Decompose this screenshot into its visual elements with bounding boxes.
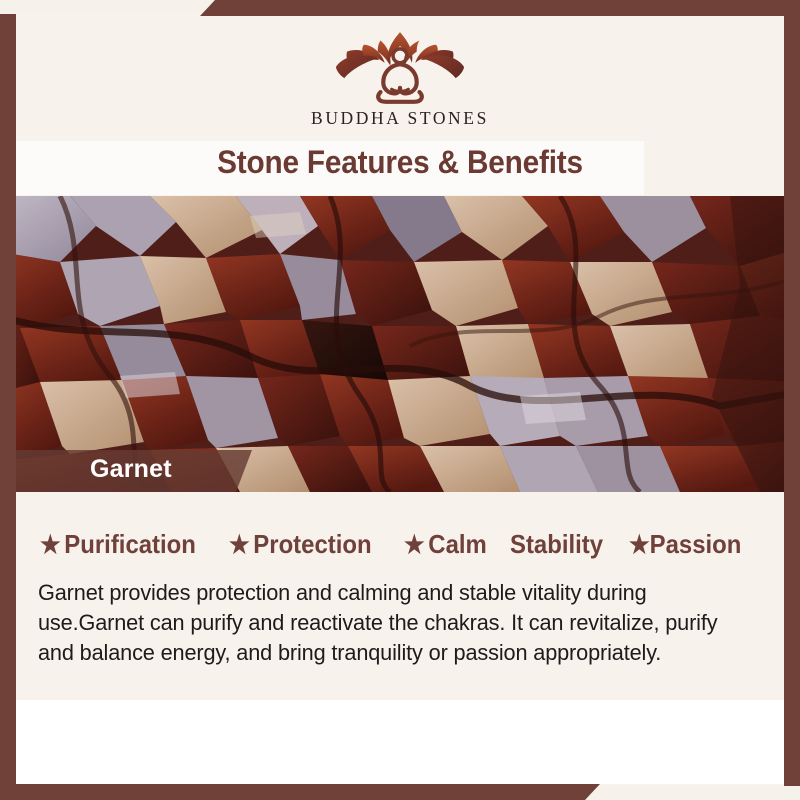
benefit-item-calm: ★ Calm [404, 529, 487, 560]
frame-bottom-bar [0, 784, 800, 800]
benefit-label: Stability [510, 529, 603, 560]
star-icon: ★ [629, 533, 650, 558]
frame-top-left-notch [0, 0, 16, 14]
benefit-label: Passion [649, 529, 741, 560]
bottom-white-panel [16, 700, 784, 784]
benefit-item-protection: ★ Protection [229, 529, 372, 560]
benefit-item-passion: ★ Passion [629, 529, 741, 560]
benefits-list: ★ Purification ★ Protection ★ Calm Stabi… [40, 529, 770, 560]
garnet-crystals-photo [0, 196, 800, 492]
benefit-item-purification: ★ Purification [40, 529, 196, 560]
benefit-item-stability: Stability [510, 529, 603, 560]
frame-left-bar [0, 0, 16, 800]
poster-root: BUDDHA STONES Stone Features & Benefits [0, 0, 800, 800]
stone-description: Garnet provides protection and calming a… [38, 578, 733, 668]
page-title: Stone Features & Benefits [41, 144, 759, 181]
benefit-label: Protection [254, 529, 372, 560]
star-icon: ★ [40, 533, 61, 558]
benefit-label: Purification [64, 529, 196, 560]
lotus-meditation-logo-icon [316, 28, 484, 106]
frame-bottom-right-notch [784, 786, 800, 800]
frame-right-bar [784, 0, 800, 800]
star-icon: ★ [229, 533, 250, 558]
stone-name: Garnet [90, 455, 172, 484]
brand-header: BUDDHA STONES [14, 14, 786, 146]
benefit-label: Calm [429, 529, 487, 560]
star-icon: ★ [404, 533, 425, 558]
brand-name: BUDDHA STONES [311, 108, 489, 129]
